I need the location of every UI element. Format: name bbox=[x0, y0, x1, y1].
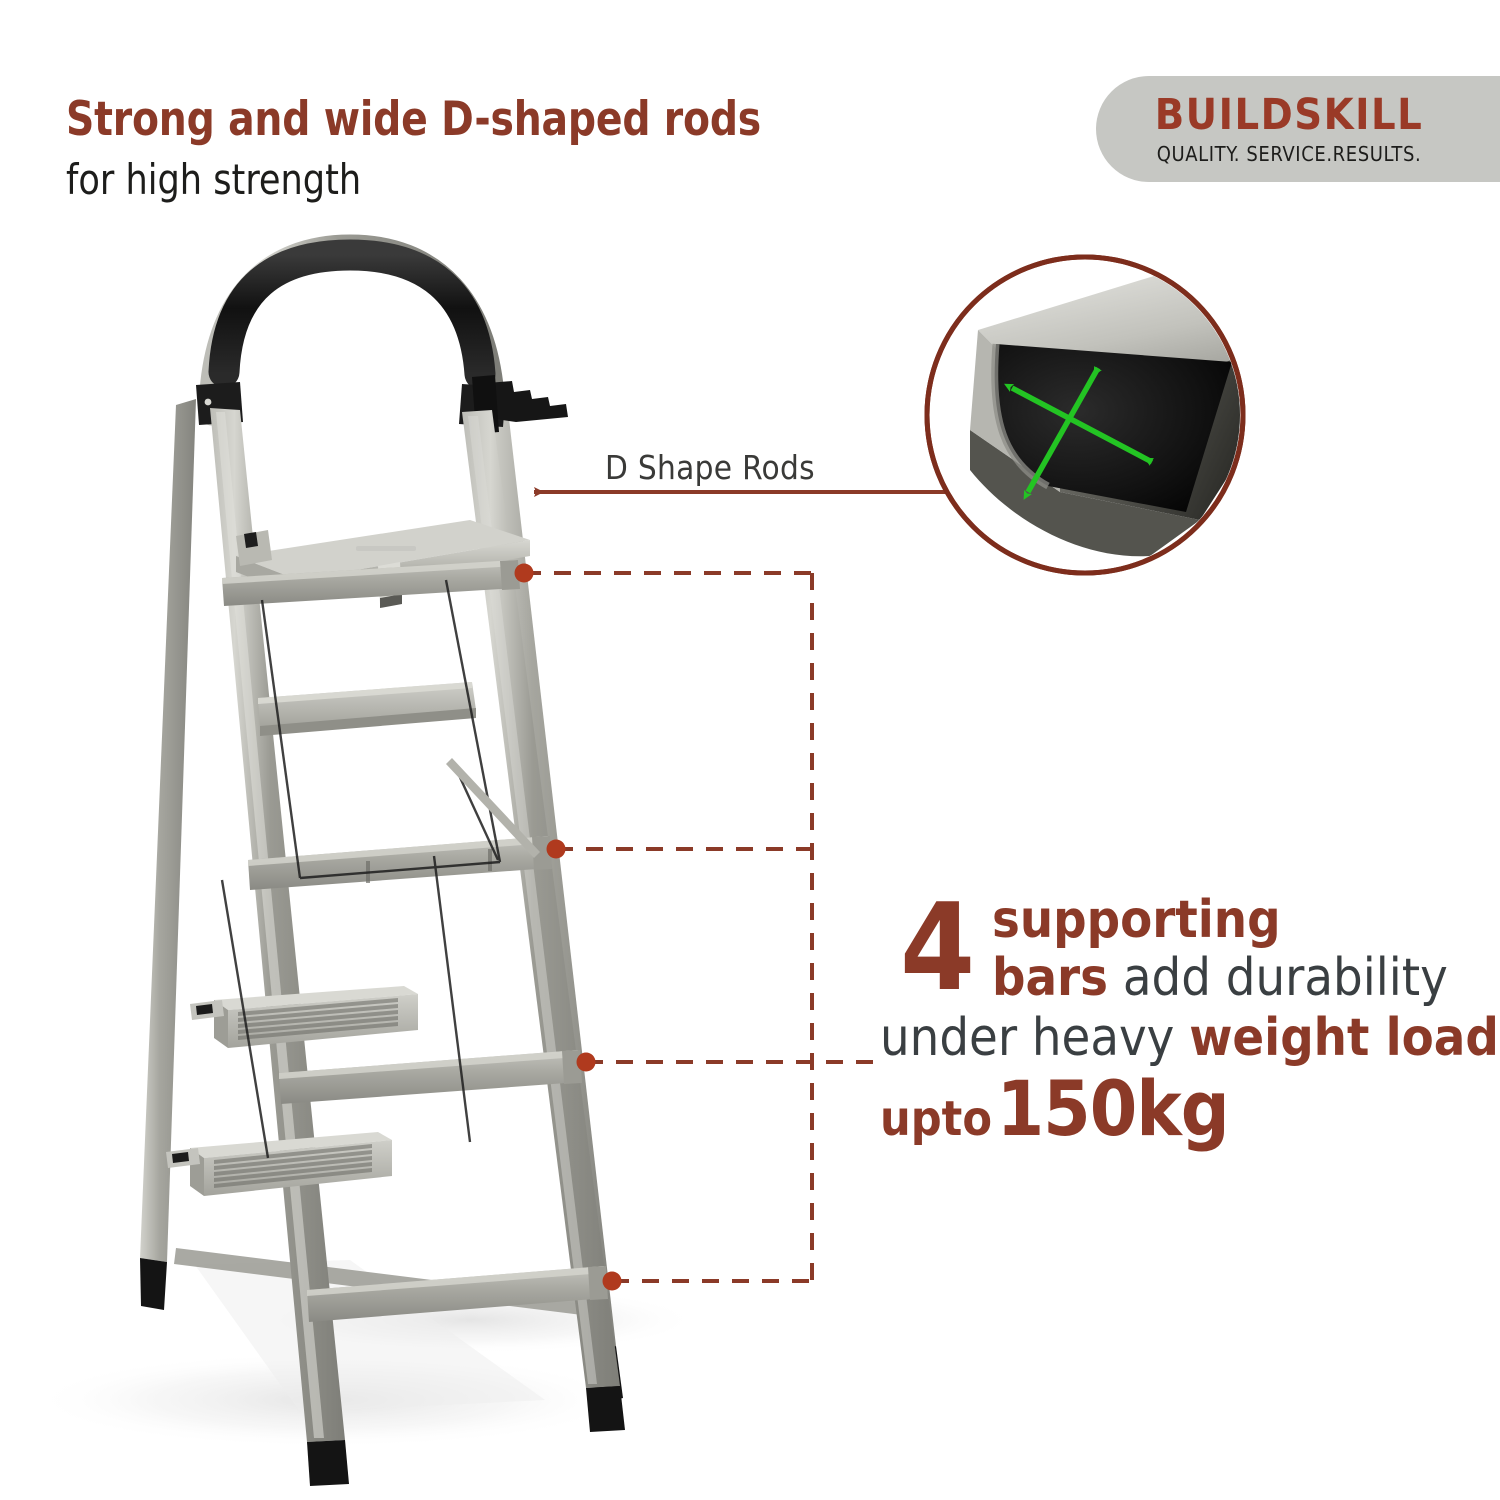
support-word-bars: bars bbox=[992, 948, 1108, 1008]
support-text-block: 4 supporting bars add durability under h… bbox=[880, 893, 1480, 1148]
brand-badge: BUILDSKILL QUALITY. SERVICE.RESULTS. bbox=[1096, 76, 1500, 182]
support-word-upto: upto bbox=[880, 1091, 992, 1147]
support-line-2: bars add durability bbox=[992, 951, 1480, 1005]
step-2 bbox=[258, 682, 476, 736]
support-phrase-weight-load: weight load bbox=[1189, 1008, 1499, 1068]
step-5 bbox=[166, 1132, 392, 1196]
brand-name: BUILDSKILL bbox=[1155, 94, 1424, 137]
brand-tagline: QUALITY. SERVICE.RESULTS. bbox=[1157, 144, 1422, 164]
support-line-3: under heavy weight load bbox=[880, 1011, 1480, 1065]
foot-cap bbox=[307, 1440, 349, 1486]
product-illustration bbox=[0, 0, 1500, 1500]
d-rod-cross-section-inset bbox=[927, 257, 1258, 573]
handle-arch bbox=[196, 248, 506, 440]
supporting-bars-count: 4 bbox=[900, 889, 975, 1009]
supporting-bar-2 bbox=[248, 836, 552, 890]
support-line-4: upto 150kg bbox=[880, 1069, 1480, 1148]
support-line-1: supporting bbox=[992, 893, 1480, 947]
rod-callout-label: D Shape Rods bbox=[605, 448, 815, 487]
headline-block: Strong and wide D-shaped rods for high s… bbox=[66, 95, 926, 205]
headline-primary: Strong and wide D-shaped rods bbox=[66, 95, 866, 144]
supporting-bar-3 bbox=[279, 1050, 582, 1104]
foot-cap bbox=[586, 1386, 625, 1432]
step-4 bbox=[190, 986, 418, 1048]
handle-grip-padding bbox=[224, 255, 480, 374]
support-phrase-durability: add durability bbox=[1123, 948, 1448, 1008]
infographic-canvas: Strong and wide D-shaped rods for high s… bbox=[0, 0, 1500, 1500]
headline-secondary: for high strength bbox=[66, 156, 866, 204]
support-capacity-value: 150kg bbox=[997, 1064, 1229, 1153]
